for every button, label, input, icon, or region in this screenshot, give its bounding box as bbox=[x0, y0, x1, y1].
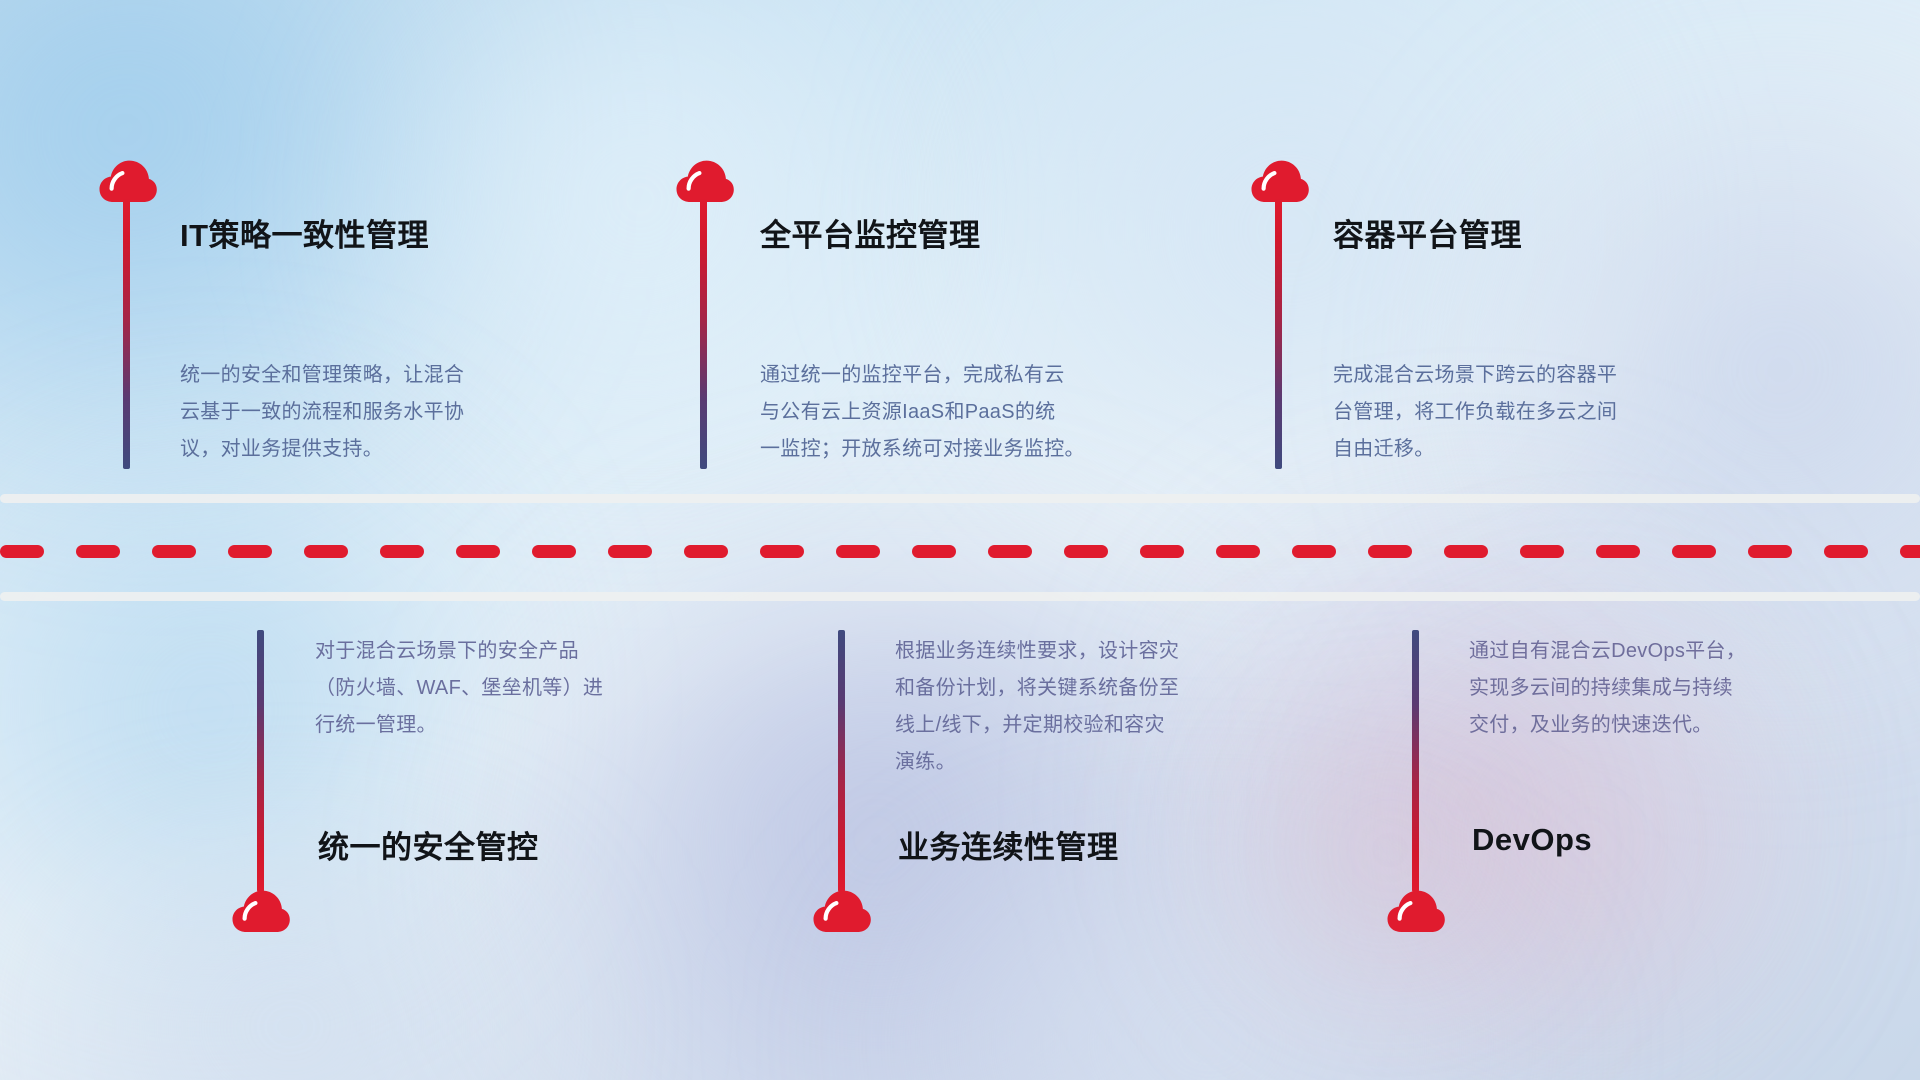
feature-title: 统一的安全管控 bbox=[318, 822, 539, 867]
feature-title: IT策略一致性管理 bbox=[180, 210, 429, 255]
description-line: 演练。 bbox=[895, 744, 1345, 781]
divider-dash bbox=[912, 545, 956, 558]
divider-dash bbox=[836, 545, 880, 558]
feature-title: 全平台监控管理 bbox=[760, 210, 981, 255]
description-line: 台管理，将工作负载在多云之间 bbox=[1333, 394, 1793, 431]
divider-dash bbox=[456, 545, 500, 558]
divider-dash bbox=[1292, 545, 1336, 558]
divider-dash bbox=[380, 545, 424, 558]
divider-dash bbox=[152, 545, 196, 558]
divider-dash bbox=[1368, 545, 1412, 558]
connector-stem bbox=[700, 197, 707, 469]
description-line: 完成混合云场景下跨云的容器平 bbox=[1333, 357, 1793, 394]
feature-description: 对于混合云场景下的安全产品 （防火墙、WAF、堡垒机等）进 行统一管理。 bbox=[315, 633, 755, 744]
divider-dash bbox=[1900, 545, 1920, 558]
cloud-pin-icon bbox=[231, 888, 291, 934]
divider-dash bbox=[988, 545, 1032, 558]
divider-dash bbox=[1520, 545, 1564, 558]
feature-description: 完成混合云场景下跨云的容器平 台管理，将工作负载在多云之间 自由迁移。 bbox=[1333, 357, 1793, 468]
description-line: 与公有云上资源IaaS和PaaS的统 bbox=[760, 394, 1220, 431]
feature-description: 统一的安全和管理策略，让混合 云基于一致的流程和服务水平协 议，对业务提供支持。 bbox=[180, 357, 610, 468]
description-line: 通过统一的监控平台，完成私有云 bbox=[760, 357, 1220, 394]
cloud-pin-icon bbox=[812, 888, 872, 934]
divider-line-bottom bbox=[0, 592, 1920, 601]
cloud-pin-icon bbox=[1386, 888, 1446, 934]
divider-dash bbox=[1672, 545, 1716, 558]
description-line: 和备份计划，将关键系统备份至 bbox=[895, 670, 1345, 707]
description-line: 议，对业务提供支持。 bbox=[180, 431, 610, 468]
description-line: 统一的安全和管理策略，让混合 bbox=[180, 357, 610, 394]
divider-dashed-line bbox=[0, 545, 1920, 558]
divider-dash bbox=[1064, 545, 1108, 558]
divider-dash bbox=[1216, 545, 1260, 558]
divider-dash bbox=[0, 545, 44, 558]
divider-dash bbox=[76, 545, 120, 558]
connector-stem bbox=[1275, 197, 1282, 469]
feature-title: DevOps bbox=[1472, 822, 1592, 858]
description-line: 交付，及业务的快速迭代。 bbox=[1469, 707, 1909, 744]
description-line: 通过自有混合云DevOps平台， bbox=[1469, 633, 1909, 670]
description-line: 对于混合云场景下的安全产品 bbox=[315, 633, 755, 670]
divider-dash bbox=[1748, 545, 1792, 558]
connector-stem bbox=[838, 630, 845, 892]
divider-dash bbox=[1596, 545, 1640, 558]
description-line: 自由迁移。 bbox=[1333, 431, 1793, 468]
divider-dash bbox=[760, 545, 804, 558]
feature-title: 容器平台管理 bbox=[1333, 210, 1522, 255]
connector-stem bbox=[257, 630, 264, 892]
divider-dash bbox=[608, 545, 652, 558]
divider-dash bbox=[304, 545, 348, 558]
feature-description: 通过统一的监控平台，完成私有云 与公有云上资源IaaS和PaaS的统 一监控；开… bbox=[760, 357, 1220, 468]
description-line: 云基于一致的流程和服务水平协 bbox=[180, 394, 610, 431]
divider-dash bbox=[1140, 545, 1184, 558]
divider-dash bbox=[532, 545, 576, 558]
feature-title: 业务连续性管理 bbox=[898, 822, 1119, 867]
description-line: 行统一管理。 bbox=[315, 707, 755, 744]
description-line: 线上/线下，并定期校验和容灾 bbox=[895, 707, 1345, 744]
divider-dash bbox=[228, 545, 272, 558]
description-line: 一监控；开放系统可对接业务监控。 bbox=[760, 431, 1220, 468]
connector-stem bbox=[1412, 630, 1419, 892]
divider-dash bbox=[684, 545, 728, 558]
description-line: 根据业务连续性要求，设计容灾 bbox=[895, 633, 1345, 670]
connector-stem bbox=[123, 197, 130, 469]
divider-dash bbox=[1444, 545, 1488, 558]
divider-line-top bbox=[0, 494, 1920, 503]
description-line: 实现多云间的持续集成与持续 bbox=[1469, 670, 1909, 707]
feature-description: 根据业务连续性要求，设计容灾 和备份计划，将关键系统备份至 线上/线下，并定期校… bbox=[895, 633, 1345, 781]
divider-dash bbox=[1824, 545, 1868, 558]
feature-description: 通过自有混合云DevOps平台， 实现多云间的持续集成与持续 交付，及业务的快速… bbox=[1469, 633, 1909, 744]
description-line: （防火墙、WAF、堡垒机等）进 bbox=[315, 670, 755, 707]
